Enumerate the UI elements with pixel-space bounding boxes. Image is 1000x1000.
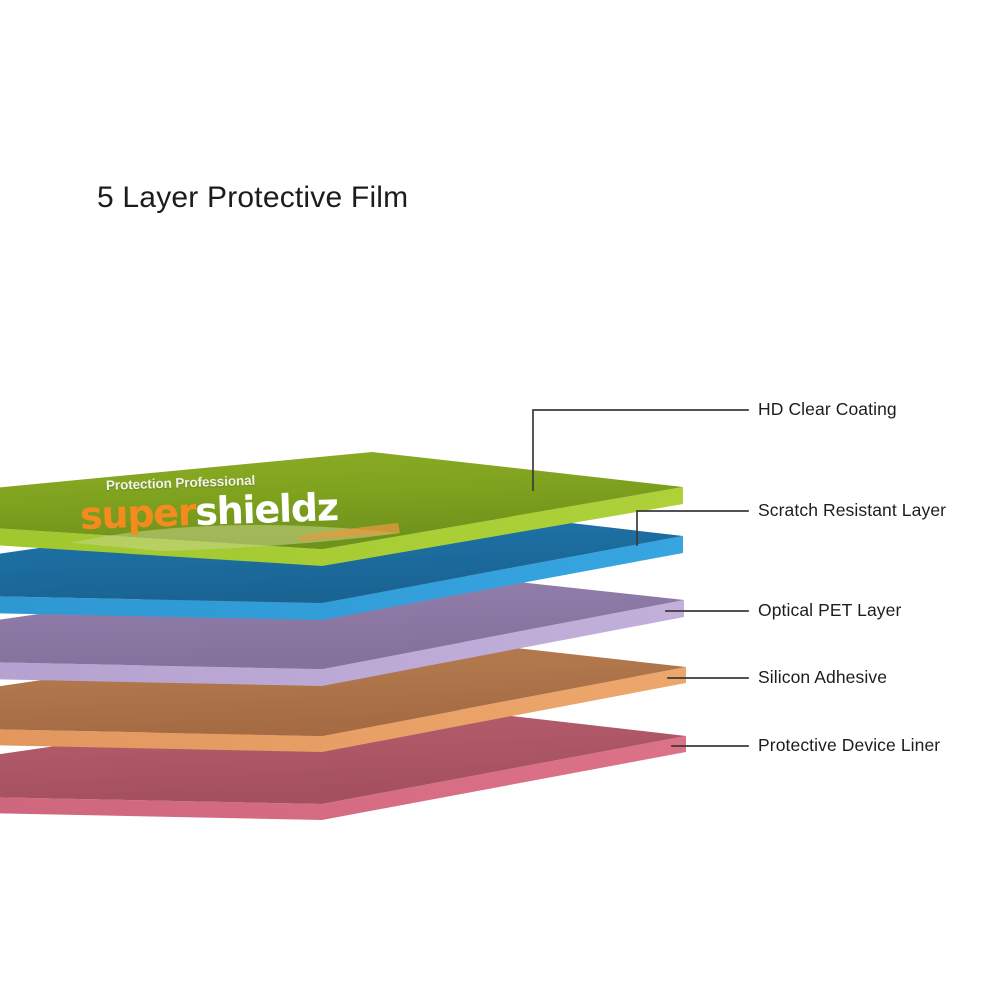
label-optical-pet-layer: Optical PET Layer: [758, 600, 901, 621]
label-silicon-adhesive: Silicon Adhesive: [758, 667, 887, 688]
label-hd-clear-coating: HD Clear Coating: [758, 399, 897, 420]
label-scratch-resistant-layer: Scratch Resistant Layer: [758, 500, 946, 521]
diagram-canvas: 5 Layer Protective Film: [0, 0, 1000, 1000]
label-protective-device-liner: Protective Device Liner: [758, 735, 940, 756]
